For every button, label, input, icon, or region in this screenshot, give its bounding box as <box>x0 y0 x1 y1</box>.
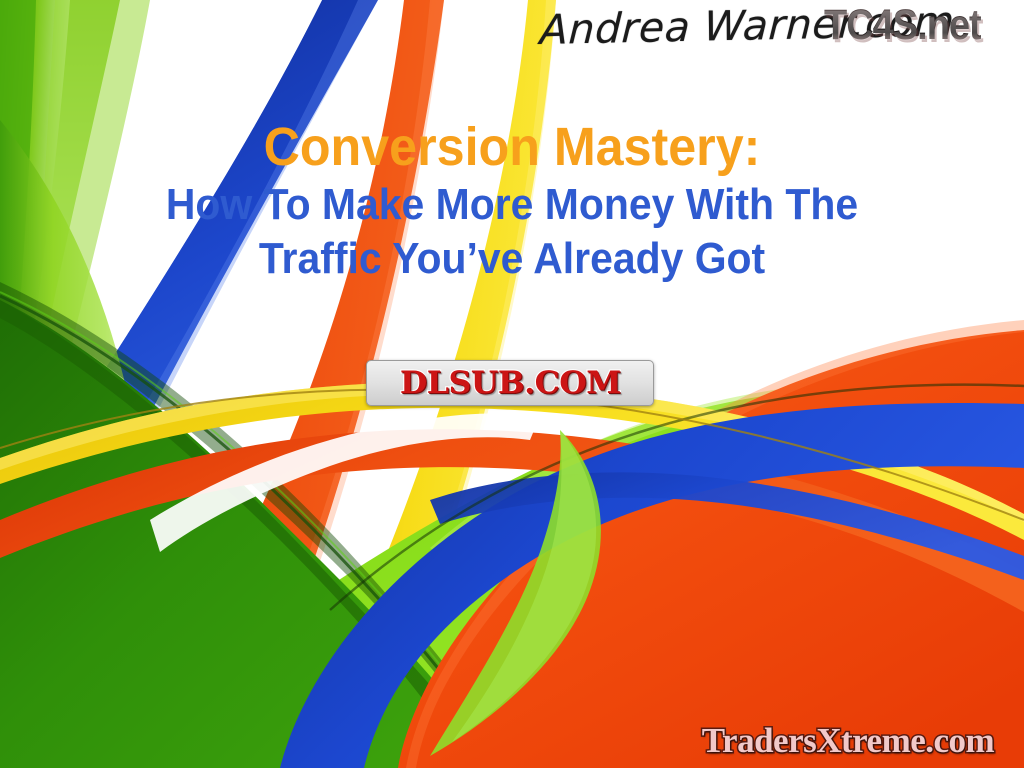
presentation-slide: Andrea Warner.com TC4S.net TC4S.net Conv… <box>0 0 1024 768</box>
tradersxtreme-watermark: TradersXtreme.com <box>676 718 1020 764</box>
page-title: Conversion Mastery: <box>36 116 988 178</box>
dlsub-watermark-badge: DLSUB.COM <box>366 360 654 406</box>
tradersxtreme-watermark-text: TradersXtreme.com <box>702 721 994 761</box>
tc4s-watermark: TC4S.net <box>824 2 981 50</box>
subtitle-line-2: Traffic You’ve Already Got <box>36 232 988 286</box>
subtitle-line-1: How To Make More Money With The <box>36 178 988 232</box>
dlsub-watermark-text: DLSUB.COM <box>400 365 621 401</box>
title-block: Conversion Mastery: How To Make More Mon… <box>0 116 1024 286</box>
